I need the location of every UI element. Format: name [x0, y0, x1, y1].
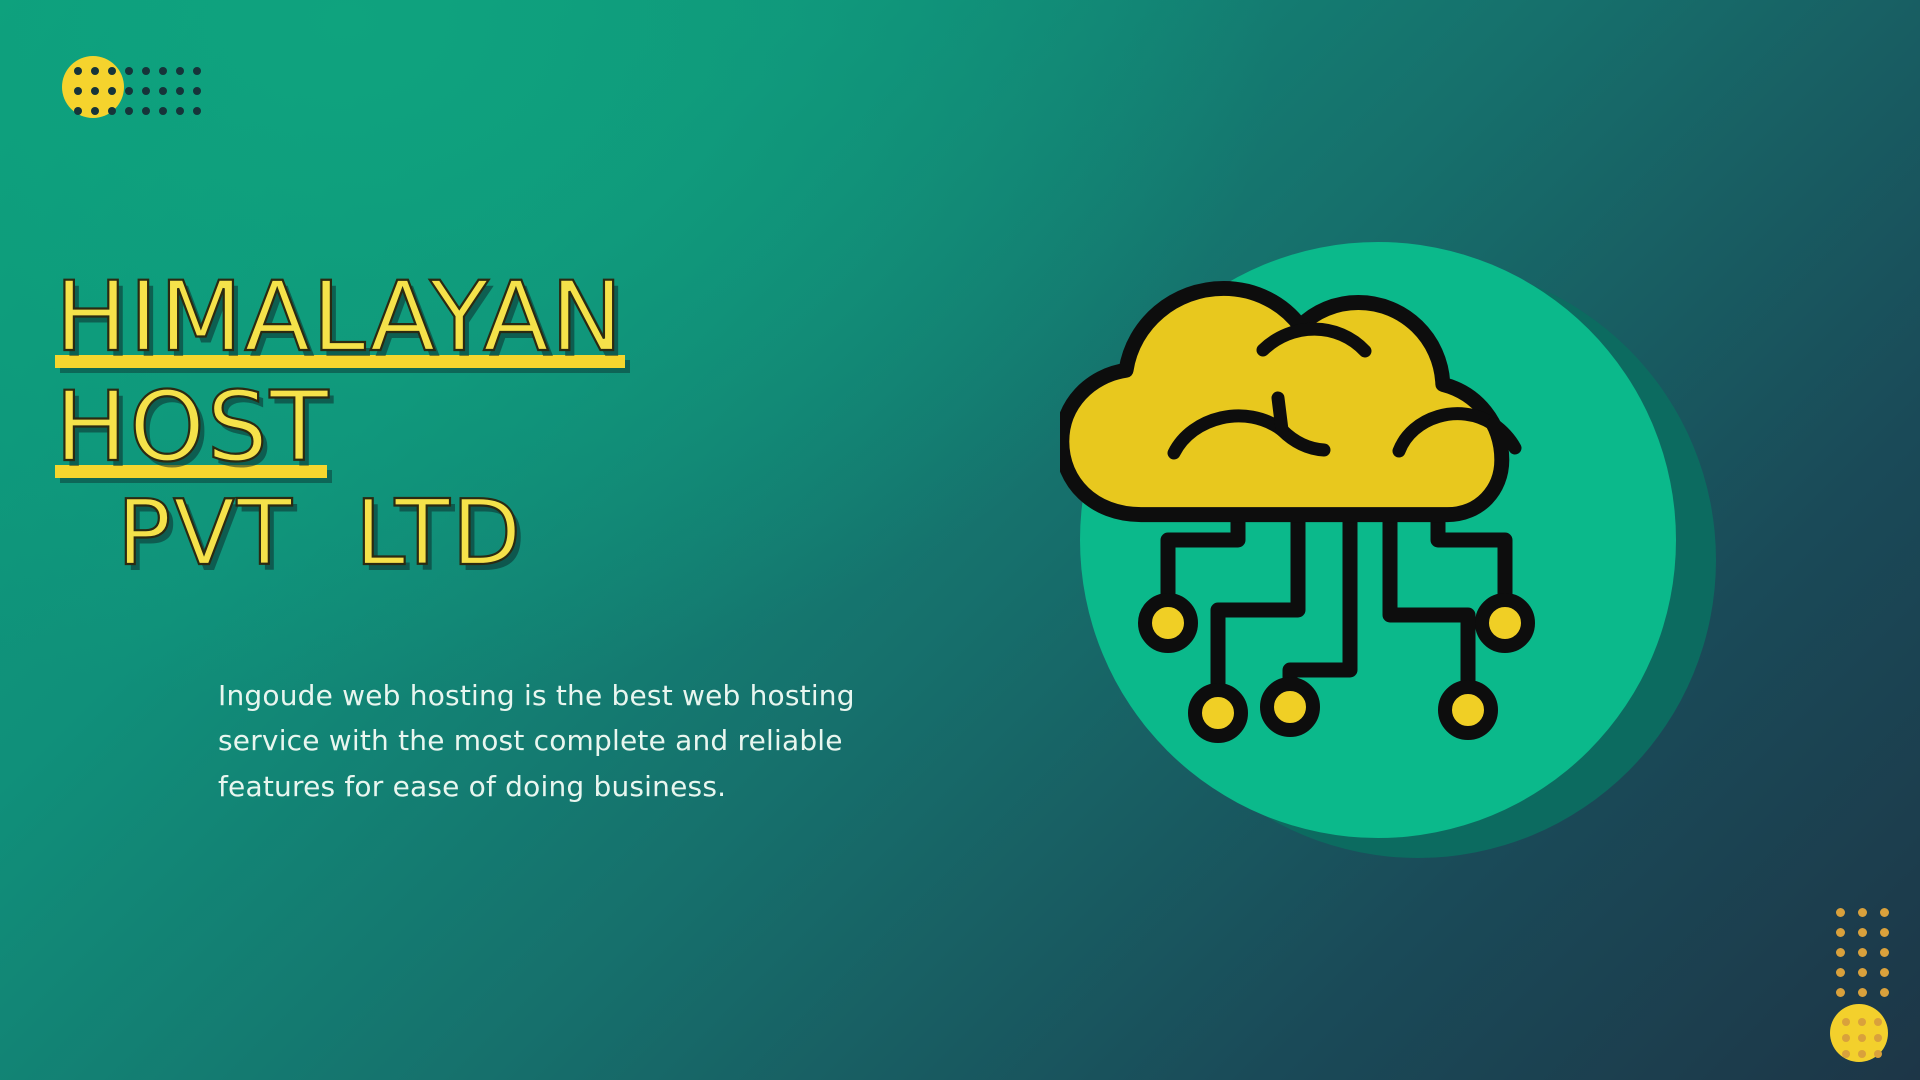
node-dot — [1145, 600, 1191, 646]
logo-dot — [1836, 908, 1845, 917]
logo-dot — [159, 67, 167, 75]
headline-block: HIMALAYAN HOST PVT LTD — [55, 268, 835, 580]
logo-dot — [1858, 988, 1867, 997]
logo-dot — [142, 67, 150, 75]
presentation-slide: HIMALAYAN HOST PVT LTD Ingoude web hosti… — [0, 0, 1920, 1080]
logo-dot — [1858, 1050, 1866, 1058]
logo-dot — [125, 107, 133, 115]
logo-dot — [74, 87, 82, 95]
company-name-line-1: HIMALAYAN — [55, 268, 835, 367]
logo-dot — [1858, 968, 1867, 977]
logo-dot — [193, 67, 201, 75]
node-dot — [1482, 600, 1528, 646]
logo-dot — [1858, 1018, 1866, 1026]
logo-dot — [91, 87, 99, 95]
headline-line-2-row: HOST — [55, 378, 835, 478]
cloud-computing-illustration — [1060, 210, 1720, 870]
logo-dot — [159, 107, 167, 115]
description-paragraph: Ingoude web hosting is the best web host… — [218, 673, 938, 809]
logo-dot — [1880, 928, 1889, 937]
logo-dot — [1880, 988, 1889, 997]
logo-dot — [125, 87, 133, 95]
logo-dot — [142, 107, 150, 115]
logo-dot — [193, 87, 201, 95]
logo-dot — [1842, 1034, 1850, 1042]
logo-dot — [74, 67, 82, 75]
logo-dot — [159, 87, 167, 95]
logo-dot — [91, 107, 99, 115]
logo-dot — [1858, 948, 1867, 957]
logo-dot — [125, 67, 133, 75]
logo-dot — [1880, 908, 1889, 917]
logo-dot — [1880, 968, 1889, 977]
logo-dot — [1858, 1034, 1866, 1042]
node-dot — [1267, 684, 1313, 730]
dot-grid-logo-bottom-right — [1826, 908, 1918, 1068]
logo-dot — [91, 67, 99, 75]
logo-dot — [1842, 1018, 1850, 1026]
logo-disc-dot-grid-icon — [1842, 1018, 1890, 1066]
logo-dot — [1874, 1050, 1882, 1058]
dot-grid-logo-top-left — [62, 56, 202, 118]
logo-dot — [1836, 928, 1845, 937]
logo-dot — [1836, 968, 1845, 977]
logo-dot — [1836, 948, 1845, 957]
company-name-line-3: PVT LTD — [55, 488, 835, 581]
logo-dot — [108, 87, 116, 95]
node-dot — [1195, 690, 1241, 736]
logo-dot — [108, 107, 116, 115]
node-dot — [1445, 687, 1491, 733]
logo-dot — [142, 87, 150, 95]
logo-dot — [1880, 948, 1889, 957]
logo-dot — [1874, 1018, 1882, 1026]
headline-line-1-row: HIMALAYAN — [55, 268, 835, 368]
logo-dot — [108, 67, 116, 75]
logo-dot — [193, 107, 201, 115]
logo-dot — [1858, 928, 1867, 937]
logo-dot — [1874, 1034, 1882, 1042]
logo-dot-grid-icon — [74, 67, 210, 127]
cloud-computing-icon — [1060, 210, 1720, 870]
logo-dot-column-icon — [1836, 908, 1902, 1008]
logo-dot — [176, 67, 184, 75]
logo-dot — [1858, 908, 1867, 917]
logo-dot — [1836, 988, 1845, 997]
logo-dot — [74, 107, 82, 115]
logo-dot — [176, 107, 184, 115]
company-name-line-2: HOST — [55, 378, 835, 477]
logo-dot — [1842, 1050, 1850, 1058]
headline-line-3-row: PVT LTD — [55, 488, 835, 581]
logo-dot — [176, 87, 184, 95]
